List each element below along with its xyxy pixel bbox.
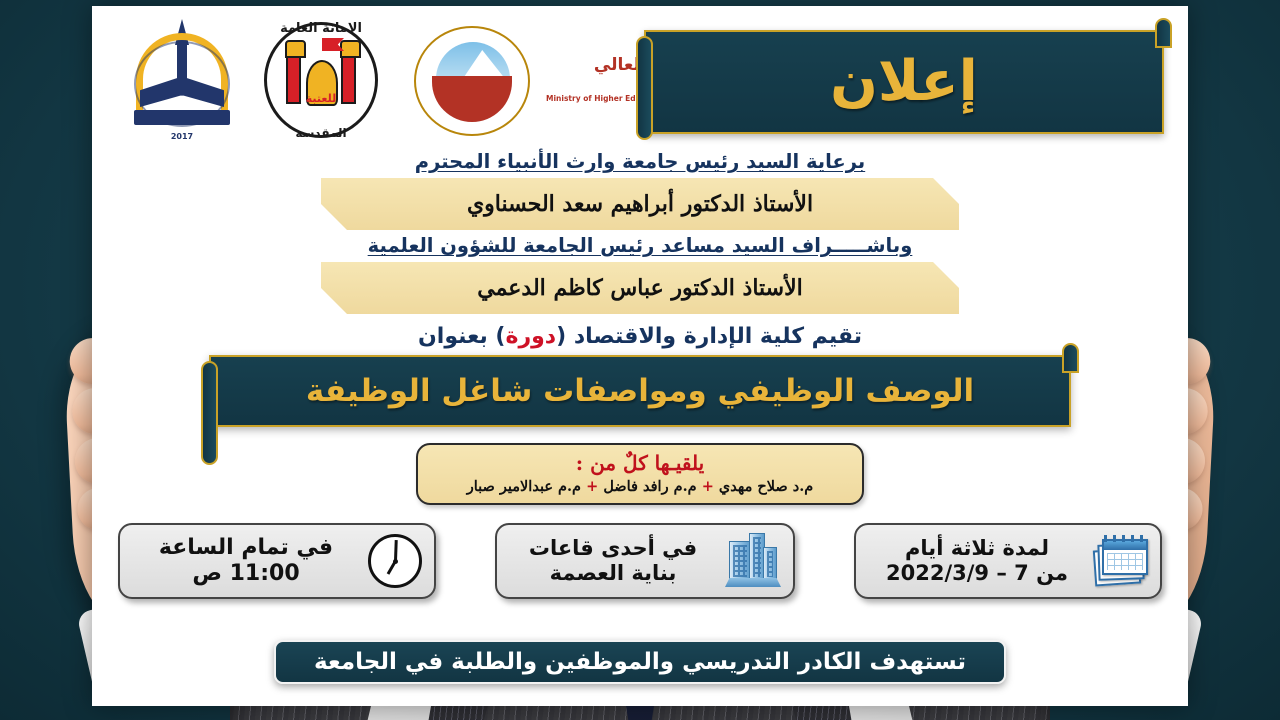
shrine-logo: الامانة العامة للعتبة المقدسة — [262, 20, 380, 140]
time-value: في تمام الساعة 11:00 ص — [132, 535, 360, 587]
shrine-logo-mid-text: للعتبة — [262, 92, 380, 105]
building-tower — [763, 547, 777, 581]
patron-name-box: الأستاذ الدكتور أبراهيم سعد الحسناوي — [321, 178, 959, 230]
info-row: لمدة ثلاثة أيام من 7 – 2022/3/9 في أحدى … — [118, 523, 1162, 599]
calendar-rings — [1104, 535, 1146, 542]
patronage-label: برعاية السيد رئيس جامعة وارث الأنبياء ال… — [106, 150, 1174, 173]
clock-minute-hand — [394, 540, 398, 561]
university-founding-year: 2017 — [128, 132, 236, 141]
clock-center-pin — [393, 559, 398, 564]
calendar-icon — [1094, 535, 1148, 587]
place-info-box: في أحدى قاعات بناية العصمة — [495, 523, 795, 599]
building-icon — [725, 533, 781, 589]
logo-arabic-band — [134, 110, 230, 125]
lecturer-name-3: م.م عبدالامير صبار — [467, 478, 581, 495]
lecturers-box: يلقيـها كلٌ من : م.د صلاح مهدي + م.م راف… — [416, 443, 864, 505]
lecturer-name-1: م.د صلاح مهدي — [719, 478, 813, 495]
course-title-banner: الوصف الوظيفي ومواصفات شاغل الوظيفة — [209, 355, 1071, 427]
target-audience-bar: تستهدف الكادر التدريسي والموظفين والطلبة… — [274, 640, 1006, 684]
clock-icon — [368, 534, 422, 588]
announcement-header-banner: إعلان — [644, 30, 1164, 134]
calendar-page — [1102, 539, 1148, 575]
target-audience-text: تستهدف الكادر التدريسي والموظفين والطلبة… — [314, 649, 966, 675]
place-line2: بناية العصمة — [509, 561, 717, 586]
college-line-suffix: ) بعنوان — [418, 324, 505, 349]
scroll-nub-right-icon — [1155, 18, 1172, 48]
ministry-logo — [410, 20, 538, 140]
lecturers-names: م.د صلاح مهدي + م.م رافد فاضل + م.م عبدا… — [432, 478, 848, 495]
scroll-nub-left-icon — [636, 36, 653, 140]
shrine-logo-bottom-text: المقدسة — [262, 126, 380, 140]
course-title: الوصف الوظيفي ومواصفات شاغل الوظيفة — [306, 373, 974, 409]
lecturer-separator: + — [586, 478, 598, 495]
shrine-logo-top-text: الامانة العامة — [262, 21, 380, 36]
logo-row: 2017 الامانة العامة للعتبة المقدسة وزارة… — [106, 14, 1174, 146]
college-line-highlight: دورة — [505, 324, 556, 349]
scroll-nub-right-icon — [1062, 343, 1079, 373]
university-logo: 2017 — [128, 19, 236, 141]
lecturers-lead-label: يلقيـها كلٌ من : — [432, 451, 848, 475]
poster-body: برعاية السيد رئيس جامعة وارث الأنبياء ال… — [106, 150, 1174, 599]
building-base — [725, 578, 781, 587]
date-range: من 7 – 2022/3/9 — [868, 561, 1086, 586]
college-line: تقيم كلية الإدارة والاقتصاد (دورة) بعنوا… — [106, 324, 1174, 349]
lecturer-name-2: م.م رافد فاضل — [603, 478, 696, 495]
date-info-text: لمدة ثلاثة أيام من 7 – 2022/3/9 — [868, 536, 1086, 586]
announcement-poster: 2017 الامانة العامة للعتبة المقدسة وزارة… — [92, 6, 1188, 706]
place-info-text: في أحدى قاعات بناية العصمة — [509, 536, 717, 586]
time-info-text: في تمام الساعة 11:00 ص — [132, 535, 360, 587]
date-duration: لمدة ثلاثة أيام — [868, 536, 1086, 561]
calendar-header-band — [1104, 541, 1146, 550]
date-info-box: لمدة ثلاثة أيام من 7 – 2022/3/9 — [854, 523, 1162, 599]
calendar-grid — [1107, 553, 1143, 570]
supervisor-name-box: الأستاذ الدكتور عباس كاظم الدعمي — [321, 262, 959, 314]
patron-name: الأستاذ الدكتور أبراهيم سعد الحسناوي — [467, 191, 813, 217]
lecturer-separator: + — [702, 478, 714, 495]
time-info-box: في تمام الساعة 11:00 ص — [118, 523, 436, 599]
supervision-label: وباشـــــراف السيد مساعد رئيس الجامعة لل… — [106, 234, 1174, 257]
supervisor-name: الأستاذ الدكتور عباس كاظم الدعمي — [477, 275, 803, 301]
place-line1: في أحدى قاعات — [509, 536, 717, 561]
college-line-prefix: تقيم كلية الإدارة والاقتصاد ( — [556, 324, 862, 349]
poster-scene: 2017 الامانة العامة للعتبة المقدسة وزارة… — [0, 0, 1280, 720]
announcement-title: إعلان — [830, 54, 978, 110]
scroll-nub-left-icon — [201, 361, 218, 465]
building-tower — [729, 541, 751, 581]
